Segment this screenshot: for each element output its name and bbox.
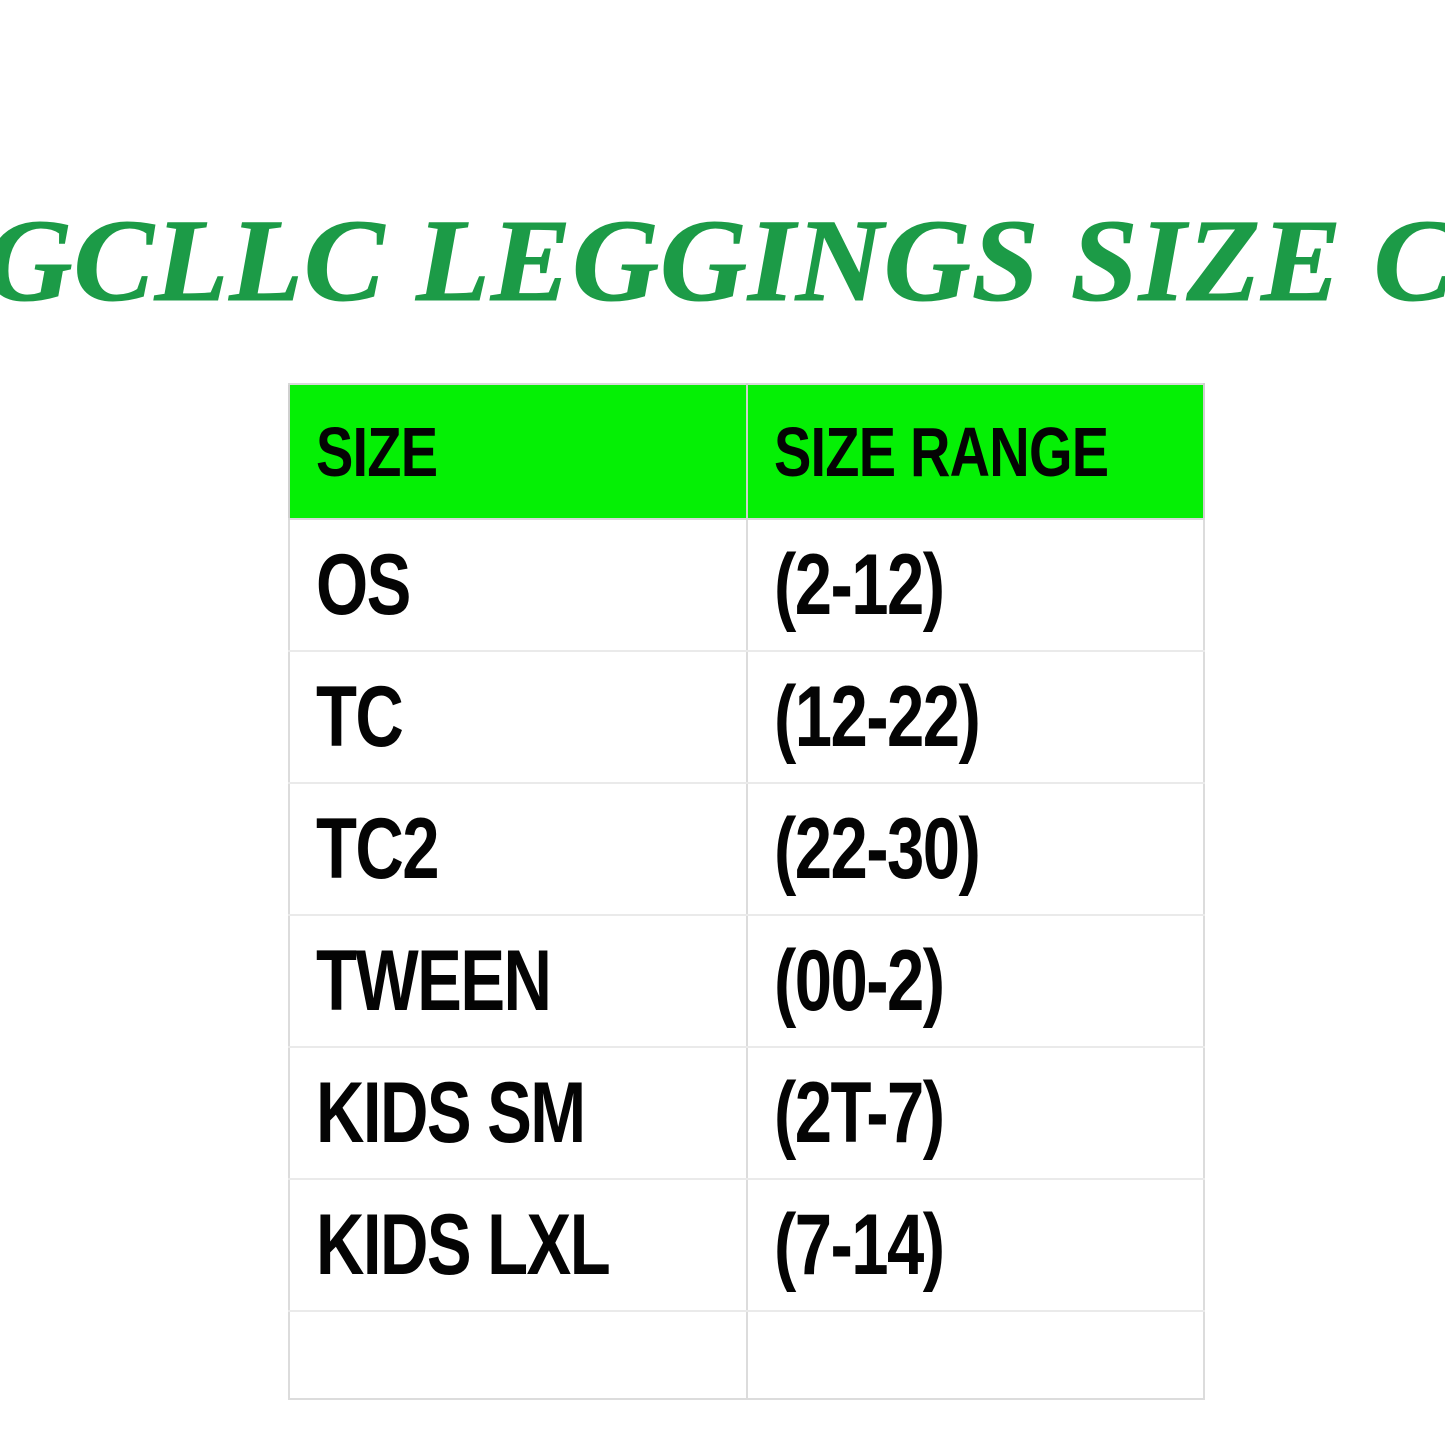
cell-size: TC <box>289 651 747 783</box>
cell-size <box>289 1311 747 1399</box>
cell-size: TC2 <box>289 783 747 915</box>
cell-size: KIDS SM <box>289 1047 747 1179</box>
leggings-size-table: SIZE SIZE RANGE OS (2-12) TC (12-22) TC2… <box>288 383 1205 1400</box>
cell-size: KIDS LXL <box>289 1179 747 1311</box>
cell-size-range-label: (00-2) <box>774 938 944 1024</box>
cell-size: TWEEN <box>289 915 747 1047</box>
cell-size-range <box>747 1311 1204 1399</box>
table-row: KIDS SM (2T-7) <box>289 1047 1204 1179</box>
size-chart-canvas: GCLLC LEGGINGS SIZE CHART SIZE SIZE RANG… <box>0 0 1445 1445</box>
cell-size: OS <box>289 519 747 651</box>
cell-size-label: TWEEN <box>316 938 550 1024</box>
column-header-size-label: SIZE <box>316 417 437 487</box>
cell-size-label: TC2 <box>316 806 438 892</box>
cell-size-range-label: (7-14) <box>774 1202 944 1288</box>
cell-size-label: TC <box>316 674 402 760</box>
cell-size-range: (7-14) <box>747 1179 1204 1311</box>
table-header-row: SIZE SIZE RANGE <box>289 384 1204 519</box>
cell-size-range: (2-12) <box>747 519 1204 651</box>
cell-size-range-label: (12-22) <box>774 674 979 760</box>
cell-size-range: (2T-7) <box>747 1047 1204 1179</box>
page-title: GCLLC LEGGINGS SIZE CHART <box>0 196 1445 326</box>
table-row: TWEEN (00-2) <box>289 915 1204 1047</box>
cell-size-range-label: (22-30) <box>774 806 979 892</box>
table-body: OS (2-12) TC (12-22) TC2 (22-30) TWEEN (… <box>289 519 1204 1399</box>
cell-size-label: KIDS LXL <box>316 1202 609 1288</box>
cell-size-label: OS <box>316 542 410 628</box>
column-header-size-range-label: SIZE RANGE <box>774 417 1108 487</box>
cell-size-range-label: (2-12) <box>774 542 944 628</box>
cell-size-label: KIDS SM <box>316 1070 585 1156</box>
table-row: TC2 (22-30) <box>289 783 1204 915</box>
cell-size-range: (12-22) <box>747 651 1204 783</box>
table-row: TC (12-22) <box>289 651 1204 783</box>
table-header: SIZE SIZE RANGE <box>289 384 1204 519</box>
column-header-size-range: SIZE RANGE <box>747 384 1204 519</box>
cell-size-range-label: (2T-7) <box>774 1070 944 1156</box>
table-row: KIDS LXL (7-14) <box>289 1179 1204 1311</box>
table-row: OS (2-12) <box>289 519 1204 651</box>
table-row <box>289 1311 1204 1399</box>
cell-size-range: (22-30) <box>747 783 1204 915</box>
cell-size-range: (00-2) <box>747 915 1204 1047</box>
column-header-size: SIZE <box>289 384 747 519</box>
